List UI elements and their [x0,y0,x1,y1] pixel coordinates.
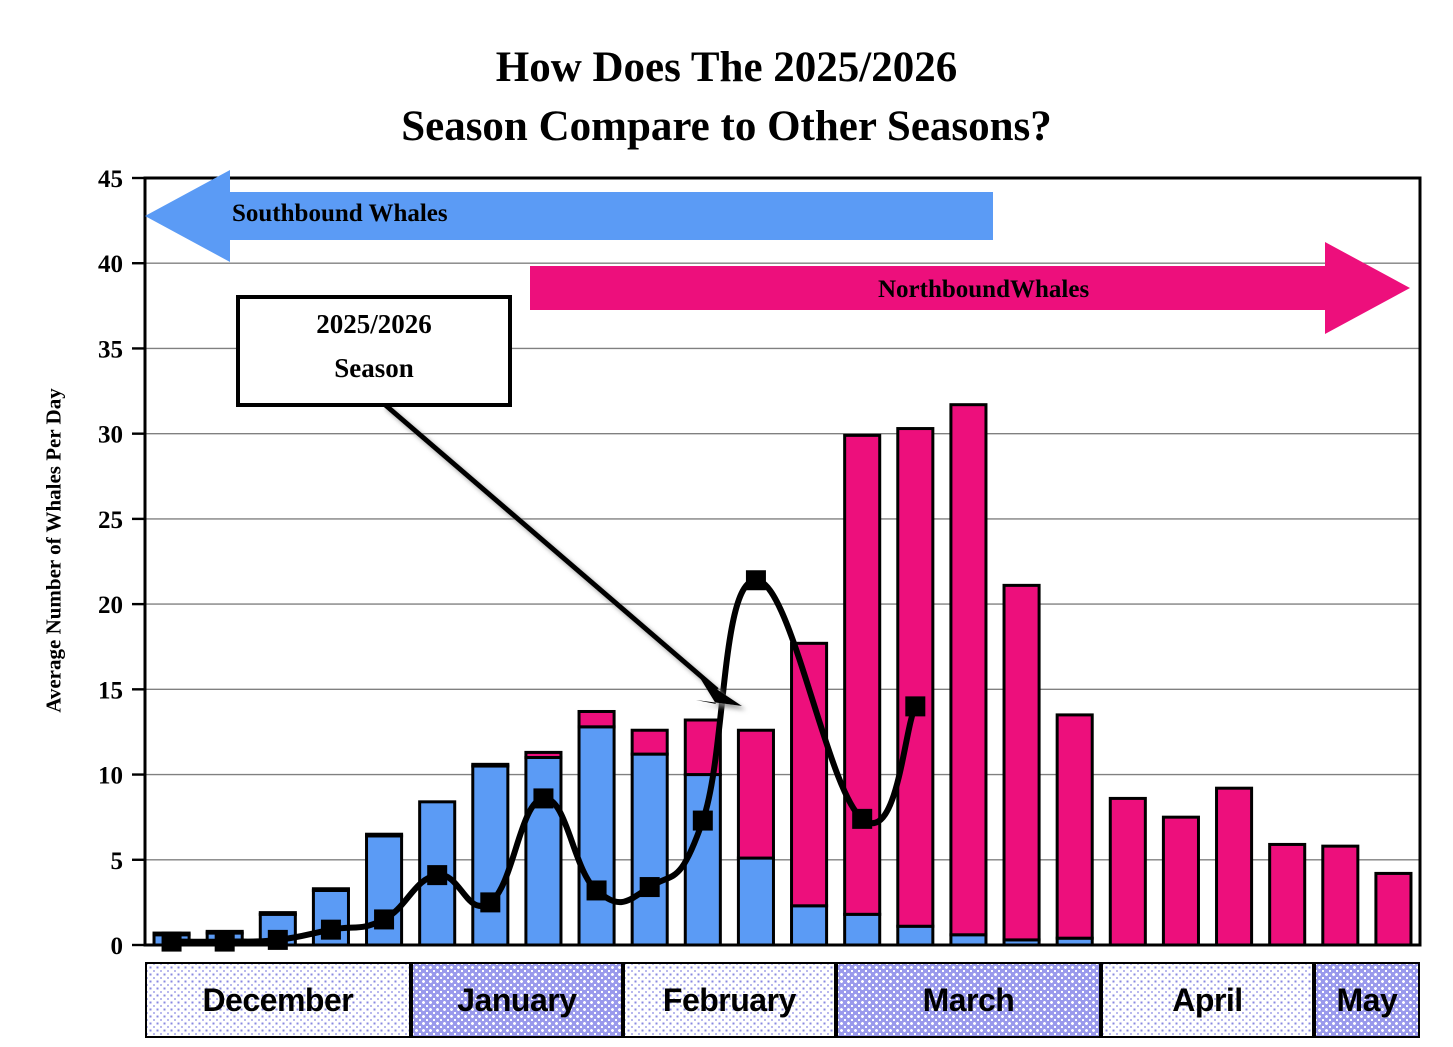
bar-southbound [951,935,986,945]
bar-northbound [1323,846,1358,945]
bar-northbound [1217,788,1252,945]
season-line-marker [480,892,500,912]
bar-northbound [313,889,348,891]
bar-northbound [1004,585,1039,940]
bar-northbound [1057,715,1092,938]
season-line-marker [268,930,288,950]
bar-northbound [898,429,933,927]
month-band-february: February [623,962,836,1038]
month-band-january: January [411,962,624,1038]
y-axis-ticks [132,178,145,945]
month-band-label: January [457,982,576,1019]
y-axis-tick-label: 20 [98,592,123,619]
bar-northbound [260,913,295,915]
season-line-marker [746,570,766,590]
month-band-label: May [1337,982,1398,1019]
y-axis-tick-label: 25 [98,507,123,534]
y-axis-tick-label: 35 [98,336,123,363]
chart-plot-svg: 051015202530354045 Southbound Whales Nor… [0,0,1453,1047]
bar-southbound [579,727,614,945]
y-axis-tick-label: 45 [98,166,123,193]
y-axis-tick-label: 30 [98,422,123,449]
bar-southbound [632,754,667,945]
month-band-march: March [836,962,1102,1038]
bar-northbound [1110,798,1145,945]
bar-northbound [1163,817,1198,945]
season-line-marker [693,811,713,831]
bar-southbound [473,766,508,945]
season-line-marker [640,877,660,897]
bar-northbound [951,405,986,935]
month-band-label: February [663,982,796,1019]
y-axis-tick-label: 15 [98,677,123,704]
bar-northbound [1376,873,1411,945]
bar-northbound [579,711,614,726]
chart-root: How Does The 2025/2026 Season Compare to… [0,0,1453,1047]
callout-line-1: 2025/2026 [316,309,432,339]
month-band-may: May [1314,962,1420,1038]
season-line-marker [215,932,235,952]
bar-northbound [526,752,561,757]
y-axis-tick-label: 10 [98,763,123,790]
y-axis-tick-labels: 051015202530354045 [98,166,123,960]
y-axis-tick-label: 0 [111,933,124,960]
bar-southbound [526,758,561,945]
bar-northbound [845,435,880,914]
bar-southbound [792,906,827,945]
bar-southbound [898,926,933,945]
bar-southbound [845,914,880,945]
northbound-arrow-label: NorthboundWhales [878,276,1089,303]
y-axis-tick-label: 40 [98,251,123,278]
month-band-label: March [923,982,1015,1019]
month-band-december: December [145,962,411,1038]
season-line-marker [374,909,394,929]
bar-southbound [685,775,720,945]
southbound-arrow-label: Southbound Whales [232,200,448,227]
season-line-marker [427,865,447,885]
month-band-label: April [1172,982,1242,1019]
season-line-marker [852,809,872,829]
season-line-marker [162,932,182,952]
month-band-april: April [1101,962,1314,1038]
season-line-marker [533,788,553,808]
month-band-label: December [202,982,353,1019]
bar-northbound [632,730,667,754]
season-line-marker [905,696,925,716]
season-line-marker [587,880,607,900]
bar-northbound [473,764,508,766]
callout-box: 2025/2026 Season [238,297,510,405]
callout-line-2: Season [334,353,414,383]
bar-northbound [367,834,402,836]
bar-northbound [1270,844,1305,945]
y-axis-tick-label: 5 [111,848,124,875]
bar-southbound [738,858,773,945]
season-line-marker [321,920,341,940]
bar-northbound [738,730,773,858]
